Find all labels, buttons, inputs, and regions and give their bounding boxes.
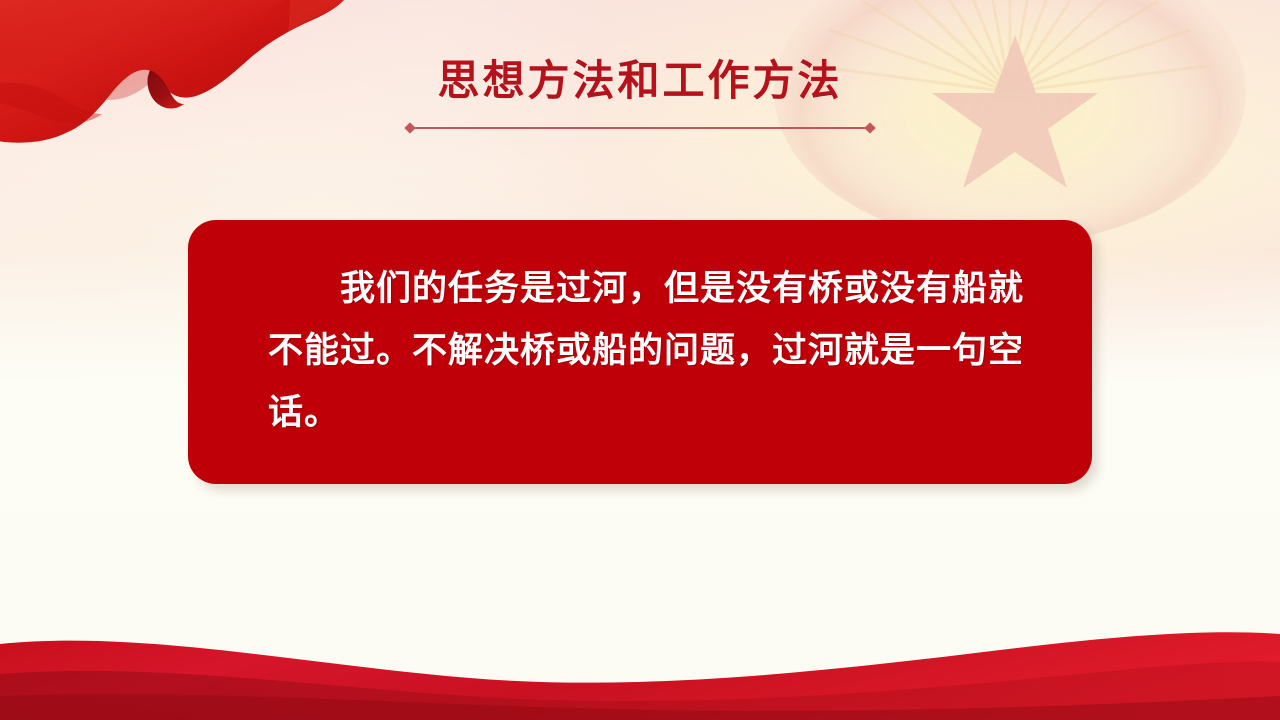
quote-text: 我们的任务是过河，但是没有桥或没有船就不能过。不解决桥或船的问题，过河就是一句空…	[268, 258, 1036, 444]
quote-card: 我们的任务是过河，但是没有桥或没有船就不能过。不解决桥或船的问题，过河就是一句空…	[188, 220, 1092, 484]
diamond-right-icon	[864, 123, 875, 134]
presentation-slide: 思想方法和工作方法 我们的任务是过河，但是没有桥或没有船就不能过。不解决桥或船的…	[0, 0, 1280, 720]
divider-line	[412, 127, 868, 129]
title-divider	[406, 122, 874, 134]
bottom-red-wave	[0, 600, 1280, 720]
page-title: 思想方法和工作方法	[0, 58, 1280, 106]
title-block: 思想方法和工作方法	[0, 58, 1280, 134]
